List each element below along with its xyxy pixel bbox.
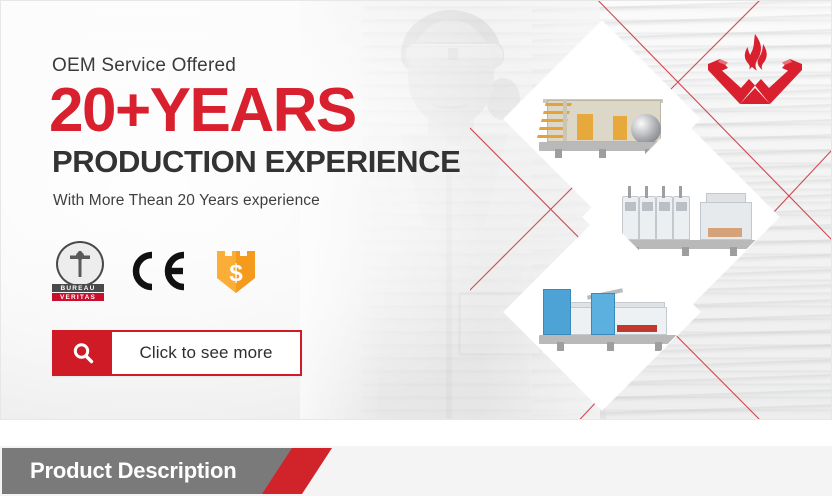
hero-kicker: OEM Service Offered [52,56,502,77]
bureau-veritas-figure [70,251,90,277]
product-description-bar: Product Description [0,446,832,496]
dollar-shield-icon: $ [214,247,258,295]
bureau-veritas-top-label: BUREAU [52,284,104,292]
hero-tagline: With More Thean 20 Years experience [53,192,502,210]
hero-subheadline: PRODUCTION EXPERIENCE [52,146,502,179]
bureau-veritas-emblem [56,241,104,287]
hero-copy: OEM Service Offered 20+YEARS PRODUCTION … [52,56,502,210]
hero-banner: OEM Service Offered 20+YEARS PRODUCTION … [0,0,832,420]
certification-badges: BUREAU VERITAS $ [52,241,258,301]
click-to-see-more-label: Click to see more [112,332,300,374]
company-logo[interactable] [700,30,810,108]
search-icon [54,332,112,374]
banner-page: OEM Service Offered 20+YEARS PRODUCTION … [0,0,832,498]
ce-mark-icon [130,251,188,291]
collage-tile-3-photo [533,243,671,381]
hero-headline: 20+YEARS [49,81,502,142]
folder-gluer-machine-icon [533,270,671,354]
svg-text:$: $ [229,260,243,287]
click-to-see-more-button[interactable]: Click to see more [52,330,302,376]
bureau-veritas-icon: BUREAU VERITAS [52,241,104,301]
bureau-veritas-bottom-label: VERITAS [52,293,104,301]
product-description-title: Product Description [30,458,236,484]
